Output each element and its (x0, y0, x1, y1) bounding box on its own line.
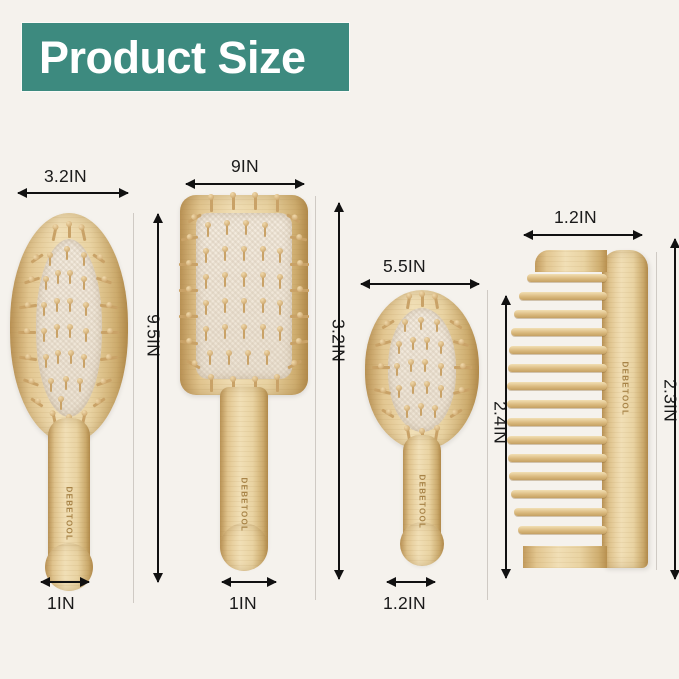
dimension-arrow-oval-handle (41, 576, 89, 588)
comb-brand: DEBETOOL (621, 362, 630, 404)
product-mini-brush: DEBETOOL (362, 290, 482, 590)
guide-line-mini-right (487, 290, 488, 600)
dimension-arrow-mini-depth (500, 296, 512, 578)
dimension-label-paddle-width: 9IN (231, 156, 259, 177)
dimension-arrow-paddle-handle (222, 576, 276, 588)
dimension-arrow-comb-depth (669, 239, 679, 579)
dimension-label-comb-width: 1.2IN (554, 207, 597, 228)
oval-brush-brand: DEBETOOL (65, 487, 74, 529)
dimension-label-paddle-handle: 1IN (229, 593, 257, 614)
dimension-label-mini-width: 5.5IN (383, 256, 426, 277)
dimension-label-oval-handle: 1IN (47, 593, 75, 614)
product-paddle-brush: DEBETOOL (180, 195, 310, 595)
dimension-arrow-oval-width (18, 187, 128, 199)
guide-line-oval-right (133, 213, 134, 603)
product-oval-brush: DEBETOOL (8, 213, 130, 593)
dimension-arrow-mini-handle (387, 576, 435, 588)
infographic-canvas: Product Size (0, 0, 679, 679)
dimension-arrow-paddle-width (186, 178, 304, 190)
dimension-arrow-oval-length (152, 214, 164, 582)
product-wide-tooth-comb: DEBETOOL (505, 250, 651, 568)
dimension-label-oval-width: 3.2IN (44, 166, 87, 187)
guide-line-paddle-right (315, 196, 316, 600)
page-title-banner: Product Size (22, 23, 349, 91)
paddle-brush-brand: DEBETOOL (240, 478, 249, 522)
guide-line-comb-right (656, 252, 657, 570)
page-title: Product Size (22, 35, 306, 80)
mini-brush-brand: DEBETOOL (418, 475, 427, 515)
dimension-arrow-comb-width (524, 229, 642, 241)
dimension-arrow-paddle-depth (333, 203, 345, 579)
dimension-arrow-mini-width (361, 278, 479, 290)
dimension-label-mini-handle: 1.2IN (383, 593, 426, 614)
